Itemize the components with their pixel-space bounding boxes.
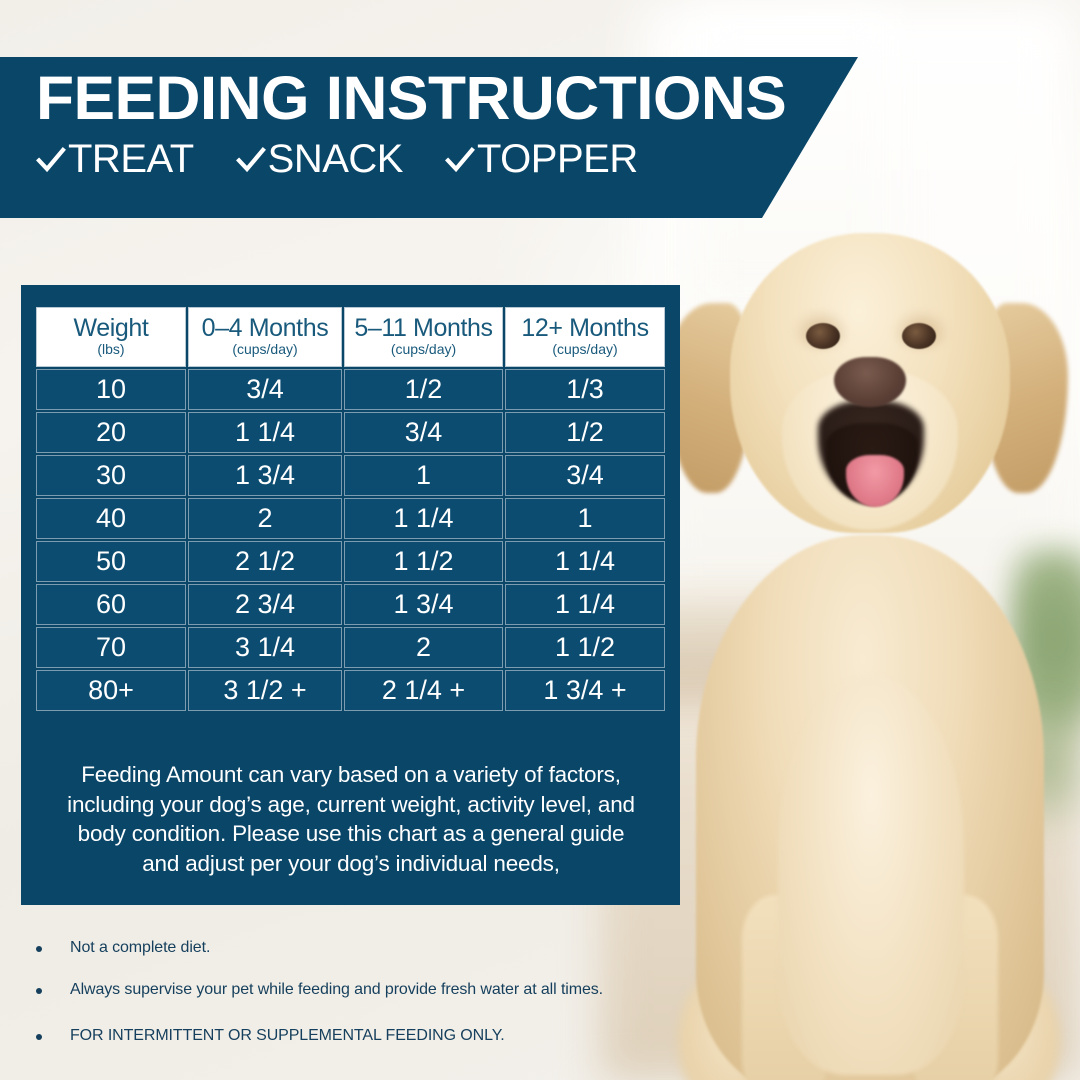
cell-weight: 50 (36, 541, 186, 582)
page-title: FEEDING INSTRUCTIONS (36, 67, 887, 129)
table-row: 50 2 1/2 1 1/2 1 1/4 (36, 541, 665, 582)
column-header-unit: (lbs) (39, 342, 183, 357)
bullet-icon (36, 988, 42, 994)
table-row: 60 2 3/4 1 3/4 1 1/4 (36, 584, 665, 625)
cell-12: 3/4 (505, 455, 665, 496)
dog-eye-left (806, 323, 840, 349)
cell-5-11: 1 3/4 (344, 584, 503, 625)
table-row: 40 2 1 1/4 1 (36, 498, 665, 539)
list-item: Not a complete diet. (24, 938, 704, 957)
cell-5-11: 1 1/4 (344, 498, 503, 539)
cell-5-11: 1 1/2 (344, 541, 503, 582)
cell-0-4: 1 3/4 (188, 455, 342, 496)
table-row: 70 3 1/4 2 1 1/2 (36, 627, 665, 668)
list-item: Always supervise your pet while feeding … (24, 980, 704, 999)
cell-0-4: 1 1/4 (188, 412, 342, 453)
column-header-unit: (cups/day) (347, 342, 500, 357)
check-icon (445, 145, 475, 175)
usage-label: SNACK (268, 137, 403, 182)
usage-item-snack: SNACK (236, 137, 403, 182)
column-header-unit: (cups/day) (191, 342, 339, 357)
column-header-0-4-months: 0–4 Months (cups/day) (188, 307, 342, 367)
column-header-weight: Weight (lbs) (36, 307, 186, 367)
column-header-title: 0–4 Months (191, 315, 339, 341)
usage-item-topper: TOPPER (445, 137, 638, 182)
cell-12: 1 1/4 (505, 541, 665, 582)
cell-0-4: 2 3/4 (188, 584, 342, 625)
table-row: 80+ 3 1/2 + 2 1/4 + 1 3/4 + (36, 670, 665, 711)
dog-eye-right (902, 323, 936, 349)
cell-weight: 30 (36, 455, 186, 496)
list-item-label: FOR INTERMITTENT OR SUPPLEMENTAL FEEDING… (70, 1026, 505, 1045)
cell-5-11: 2 (344, 627, 503, 668)
feeding-disclaimer: Feeding Amount can vary based on a varie… (57, 760, 645, 879)
cell-0-4: 3/4 (188, 369, 342, 410)
cell-weight: 10 (36, 369, 186, 410)
cell-5-11: 3/4 (344, 412, 503, 453)
column-header-title: 5–11 Months (347, 315, 500, 341)
cell-5-11: 2 1/4 + (344, 670, 503, 711)
table-header-row: Weight (lbs) 0–4 Months (cups/day) 5–11 … (36, 307, 665, 367)
header-banner: FEEDING INSTRUCTIONS TREAT SNACK (0, 57, 870, 218)
list-item-label: Always supervise your pet while feeding … (70, 980, 603, 999)
feeding-instructions-page: FEEDING INSTRUCTIONS TREAT SNACK (0, 0, 1080, 1080)
usage-list: TREAT SNACK TOPPER (36, 137, 870, 182)
table-row: 30 1 3/4 1 3/4 (36, 455, 665, 496)
bullet-icon (36, 946, 42, 952)
check-icon (236, 145, 266, 175)
table-body: 10 3/4 1/2 1/3 20 1 1/4 3/4 1/2 30 1 3/4… (36, 369, 665, 711)
cell-5-11: 1 (344, 455, 503, 496)
usage-item-treat: TREAT (36, 137, 194, 182)
cell-0-4: 2 (188, 498, 342, 539)
cell-weight: 70 (36, 627, 186, 668)
column-header-5-11-months: 5–11 Months (cups/day) (344, 307, 503, 367)
column-header-unit: (cups/day) (508, 342, 662, 357)
feeding-chart-panel: Weight (lbs) 0–4 Months (cups/day) 5–11 … (21, 285, 680, 905)
feeding-table: Weight (lbs) 0–4 Months (cups/day) 5–11 … (34, 305, 667, 713)
table-row: 20 1 1/4 3/4 1/2 (36, 412, 665, 453)
cell-12: 1/3 (505, 369, 665, 410)
cell-12: 1 1/2 (505, 627, 665, 668)
cell-weight: 20 (36, 412, 186, 453)
cell-5-11: 1/2 (344, 369, 503, 410)
usage-label: TOPPER (477, 137, 638, 182)
cell-12: 1 (505, 498, 665, 539)
labrador-dog-photo (660, 205, 1080, 1080)
cell-0-4: 3 1/4 (188, 627, 342, 668)
cell-weight: 40 (36, 498, 186, 539)
usage-label: TREAT (68, 137, 194, 182)
cell-weight: 60 (36, 584, 186, 625)
bullet-icon (36, 1034, 42, 1040)
dog-chest (778, 675, 964, 1075)
column-header-title: Weight (39, 315, 183, 341)
table-header: Weight (lbs) 0–4 Months (cups/day) 5–11 … (36, 307, 665, 367)
cell-12: 1 3/4 + (505, 670, 665, 711)
footnotes-list: Not a complete diet. Always supervise yo… (24, 938, 704, 1069)
list-item-label: Not a complete diet. (70, 938, 210, 957)
cell-0-4: 2 1/2 (188, 541, 342, 582)
column-header-title: 12+ Months (508, 315, 662, 341)
cell-12: 1 1/4 (505, 584, 665, 625)
table-row: 10 3/4 1/2 1/3 (36, 369, 665, 410)
cell-12: 1/2 (505, 412, 665, 453)
column-header-12-plus-months: 12+ Months (cups/day) (505, 307, 665, 367)
cell-weight: 80+ (36, 670, 186, 711)
list-item: FOR INTERMITTENT OR SUPPLEMENTAL FEEDING… (24, 1026, 704, 1045)
cell-0-4: 3 1/2 + (188, 670, 342, 711)
check-icon (36, 145, 66, 175)
